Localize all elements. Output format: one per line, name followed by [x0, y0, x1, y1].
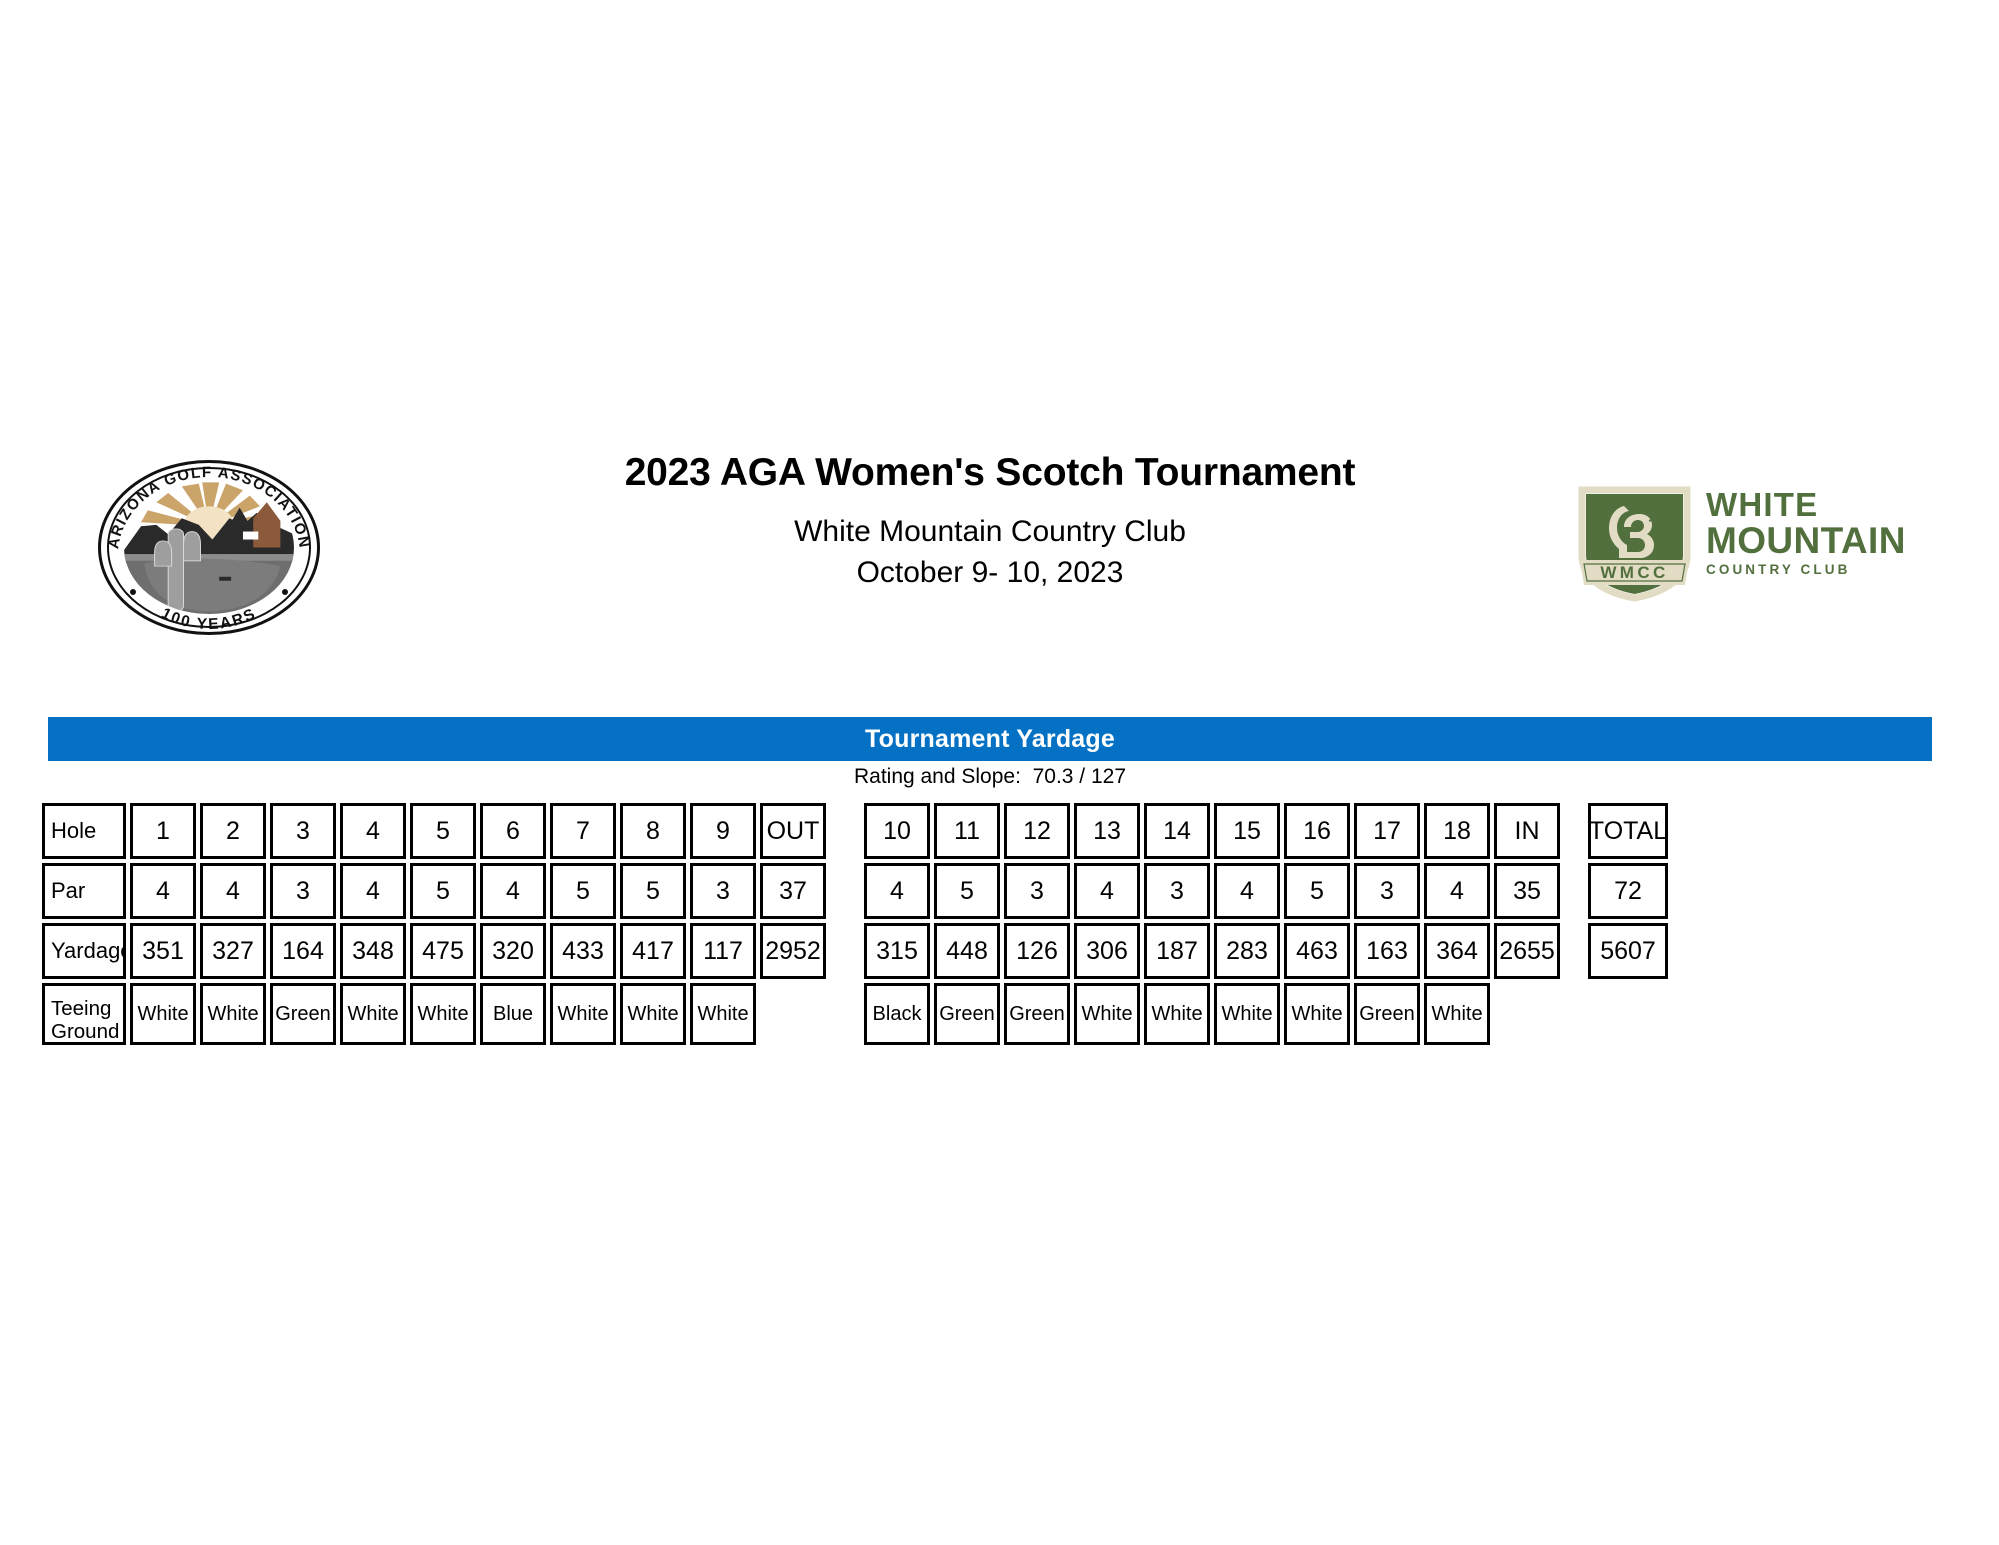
tournament-yardage-banner: Tournament Yardage [48, 717, 1932, 761]
yardage-hole-7: 433 [550, 923, 616, 979]
par-hole-1: 4 [130, 863, 196, 919]
par-hole-2: 4 [200, 863, 266, 919]
teeing-ground-hole-13: White [1074, 983, 1140, 1045]
scorecard-row-teeing-ground: Teeing Ground White White Green White Wh… [42, 983, 1948, 1045]
hole-number-4: 4 [340, 803, 406, 859]
teeing-ground-hole-16: White [1284, 983, 1350, 1045]
hole-number-5: 5 [410, 803, 476, 859]
total-separator [1564, 863, 1588, 919]
row-label-yardage: Yardage [42, 923, 126, 979]
scorecard-table: Hole 1 2 3 4 5 6 7 8 9 OUT 10 11 12 13 1… [42, 803, 1948, 1049]
yardage-hole-15: 283 [1214, 923, 1280, 979]
yardage-hole-5: 475 [410, 923, 476, 979]
par-hole-12: 3 [1004, 863, 1070, 919]
hole-number-6: 6 [480, 803, 546, 859]
yardage-hole-6: 320 [480, 923, 546, 979]
hole-number-1: 1 [130, 803, 196, 859]
par-hole-8: 5 [620, 863, 686, 919]
venue-name: White Mountain Country Club [400, 515, 1580, 550]
hole-number-11: 11 [934, 803, 1000, 859]
hole-number-9: 9 [690, 803, 756, 859]
column-header-out: OUT [760, 803, 826, 859]
teeing-ground-out-empty [760, 983, 826, 1045]
wmcc-line-mountain: MOUNTAIN [1706, 522, 1926, 560]
par-hole-18: 4 [1424, 863, 1490, 919]
arizona-golf-association-logo: ARIZONA GOLF ASSOCIATION 100 YEARS [98, 460, 320, 635]
teeing-ground-hole-5: White [410, 983, 476, 1045]
tournament-yardage-title: Tournament Yardage [865, 725, 1115, 754]
teeing-ground-hole-10: Black [864, 983, 930, 1045]
par-hole-15: 4 [1214, 863, 1280, 919]
yardage-hole-16: 463 [1284, 923, 1350, 979]
row-label-hole: Hole [42, 803, 126, 859]
par-out-total: 37 [760, 863, 826, 919]
nine-separator [830, 983, 864, 1045]
hole-number-17: 17 [1354, 803, 1420, 859]
teeing-ground-hole-9: White [690, 983, 756, 1045]
title-block: 2023 AGA Women's Scotch Tournament White… [400, 452, 1580, 591]
white-mountain-country-club-logo: WMCC WHITE MOUNTAIN COUNTRY CLUB [1578, 482, 1928, 602]
column-header-in: IN [1494, 803, 1560, 859]
scorecard-row-par: Par 4 4 3 4 5 4 5 5 3 37 4 5 3 4 3 4 5 3… [42, 863, 1948, 919]
rating-and-slope: Rating and Slope: 70.3 / 127 [48, 765, 1932, 789]
row-label-par: Par [42, 863, 126, 919]
yardage-hole-10: 315 [864, 923, 930, 979]
teeing-ground-total-empty [1588, 983, 1668, 1045]
hole-number-3: 3 [270, 803, 336, 859]
teeing-ground-hole-1: White [130, 983, 196, 1045]
wmcc-shield-icon: WMCC [1578, 484, 1691, 602]
par-hole-4: 4 [340, 863, 406, 919]
yardage-hole-14: 187 [1144, 923, 1210, 979]
teeing-ground-hole-14: White [1144, 983, 1210, 1045]
yardage-hole-11: 448 [934, 923, 1000, 979]
yardage-out-total: 2952 [760, 923, 826, 979]
hole-number-14: 14 [1144, 803, 1210, 859]
par-hole-5: 5 [410, 863, 476, 919]
hole-number-8: 8 [620, 803, 686, 859]
nine-separator [830, 803, 864, 859]
par-hole-17: 3 [1354, 863, 1420, 919]
nine-separator [830, 923, 864, 979]
yardage-hole-1: 351 [130, 923, 196, 979]
teeing-ground-hole-11: Green [934, 983, 1000, 1045]
yardage-hole-2: 327 [200, 923, 266, 979]
hole-number-12: 12 [1004, 803, 1070, 859]
yardage-hole-8: 417 [620, 923, 686, 979]
tournament-dates: October 9- 10, 2023 [400, 556, 1580, 591]
hole-number-15: 15 [1214, 803, 1280, 859]
wmcc-line-white: WHITE [1706, 488, 1926, 522]
yardage-hole-9: 117 [690, 923, 756, 979]
par-in-total: 35 [1494, 863, 1560, 919]
par-hole-13: 4 [1074, 863, 1140, 919]
par-hole-7: 5 [550, 863, 616, 919]
par-hole-11: 5 [934, 863, 1000, 919]
hole-number-10: 10 [864, 803, 930, 859]
total-separator [1564, 923, 1588, 979]
teeing-ground-hole-18: White [1424, 983, 1490, 1045]
hole-number-2: 2 [200, 803, 266, 859]
teeing-ground-hole-8: White [620, 983, 686, 1045]
yardage-grand-total: 5607 [1588, 923, 1668, 979]
hole-number-18: 18 [1424, 803, 1490, 859]
column-header-total: TOTAL [1588, 803, 1668, 859]
teeing-ground-hole-6: Blue [480, 983, 546, 1045]
total-separator [1564, 983, 1588, 1045]
scorecard-row-yardage: Yardage 351 327 164 348 475 320 433 417 … [42, 923, 1948, 979]
teeing-ground-hole-2: White [200, 983, 266, 1045]
hole-number-13: 13 [1074, 803, 1140, 859]
wmcc-line-country-club: COUNTRY CLUB [1706, 563, 1926, 577]
par-grand-total: 72 [1588, 863, 1668, 919]
teeing-ground-hole-12: Green [1004, 983, 1070, 1045]
par-hole-6: 4 [480, 863, 546, 919]
yardage-hole-12: 126 [1004, 923, 1070, 979]
hole-number-7: 7 [550, 803, 616, 859]
teeing-ground-hole-15: White [1214, 983, 1280, 1045]
wmcc-badge-text: WMCC [1600, 563, 1668, 582]
total-separator [1564, 803, 1588, 859]
teeing-ground-hole-7: White [550, 983, 616, 1045]
hole-number-16: 16 [1284, 803, 1350, 859]
par-hole-14: 3 [1144, 863, 1210, 919]
row-label-teeing-ground: Teeing Ground [42, 983, 126, 1045]
yardage-hole-17: 163 [1354, 923, 1420, 979]
par-hole-10: 4 [864, 863, 930, 919]
page-header: ARIZONA GOLF ASSOCIATION 100 YEARS 2023 … [0, 452, 1999, 642]
teeing-ground-hole-17: Green [1354, 983, 1420, 1045]
page-title: 2023 AGA Women's Scotch Tournament [400, 452, 1580, 495]
yardage-hole-18: 364 [1424, 923, 1490, 979]
par-hole-9: 3 [690, 863, 756, 919]
yardage-in-total: 2655 [1494, 923, 1560, 979]
teeing-ground-hole-3: Green [270, 983, 336, 1045]
nine-separator [830, 863, 864, 919]
wmcc-wordmark: WHITE MOUNTAIN COUNTRY CLUB [1706, 488, 1926, 578]
par-hole-16: 5 [1284, 863, 1350, 919]
aga-desert-scene [124, 481, 294, 614]
teeing-ground-in-empty [1494, 983, 1560, 1045]
yardage-hole-4: 348 [340, 923, 406, 979]
yardage-hole-3: 164 [270, 923, 336, 979]
par-hole-3: 3 [270, 863, 336, 919]
scorecard-row-hole: Hole 1 2 3 4 5 6 7 8 9 OUT 10 11 12 13 1… [42, 803, 1948, 859]
yardage-hole-13: 306 [1074, 923, 1140, 979]
teeing-ground-hole-4: White [340, 983, 406, 1045]
